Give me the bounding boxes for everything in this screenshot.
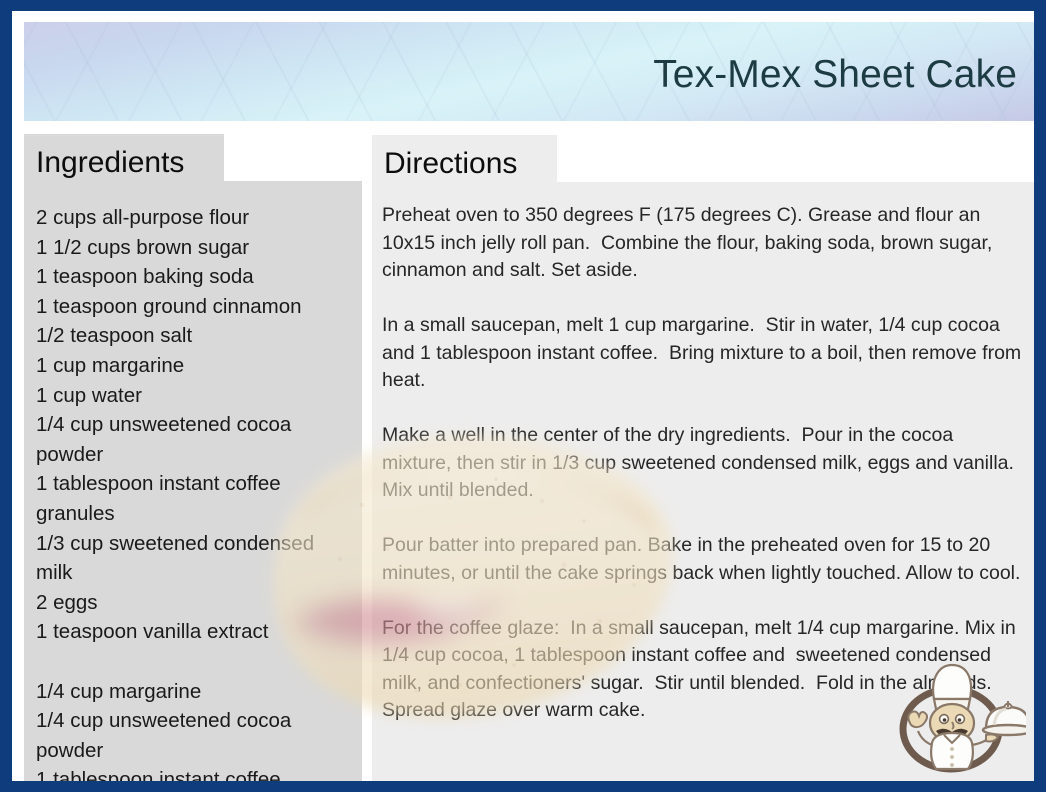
- ingredient-item: 1 teaspoon ground cinnamon: [36, 292, 352, 322]
- page-surface: Tex-Mex Sheet Cake Ingredients Direction…: [12, 11, 1034, 781]
- direction-step: In a small saucepan, melt 1 cup margarin…: [382, 312, 1026, 395]
- page-title: Tex-Mex Sheet Cake: [653, 51, 1017, 99]
- ingredient-item: 1/2 teaspoon salt: [36, 321, 352, 351]
- ingredient-item: 1 teaspoon vanilla extract: [36, 617, 352, 647]
- ingredient-item: 1/4 cup unsweetened cocoa powder: [36, 410, 352, 469]
- ingredient-item: 1 tablespoon instant coffee granules: [36, 765, 352, 781]
- ingredient-item: 2 eggs: [36, 588, 352, 618]
- ingredients-list: 2 cups all-purpose flour1 1/2 cups brown…: [36, 203, 352, 781]
- ingredient-item: 1/3 cup sweetened condensed milk: [36, 529, 352, 588]
- directions-panel: Preheat oven to 350 degrees F (175 degre…: [372, 182, 1034, 781]
- ingredient-item: 2 cups all-purpose flour: [36, 203, 352, 233]
- recipe-card-frame: Tex-Mex Sheet Cake Ingredients Direction…: [0, 0, 1046, 792]
- direction-step: Make a well in the center of the dry ing…: [382, 422, 1026, 505]
- direction-step: Preheat oven to 350 degrees F (175 degre…: [382, 202, 1026, 285]
- ingredient-item: 1 teaspoon baking soda: [36, 262, 352, 292]
- ingredients-panel: 2 cups all-purpose flour1 1/2 cups brown…: [24, 181, 362, 781]
- ingredient-item: 1/4 cup unsweetened cocoa powder: [36, 706, 352, 765]
- direction-step: Pour batter into prepared pan. Bake in t…: [382, 532, 1026, 587]
- directions-list: Preheat oven to 350 degrees F (175 degre…: [382, 202, 1026, 725]
- ingredient-item: 1 tablespoon instant coffee granules: [36, 469, 352, 528]
- ingredient-item: 1 cup margarine: [36, 351, 352, 381]
- ingredient-item: 1/4 cup margarine: [36, 677, 352, 707]
- ingredient-item: 1 1/2 cups brown sugar: [36, 233, 352, 263]
- title-banner: Tex-Mex Sheet Cake: [24, 22, 1034, 121]
- ingredient-item: 1 cup water: [36, 381, 352, 411]
- direction-step: For the coffee glaze: In a small saucepa…: [382, 615, 1026, 725]
- ingredient-group-spacer: [36, 647, 352, 677]
